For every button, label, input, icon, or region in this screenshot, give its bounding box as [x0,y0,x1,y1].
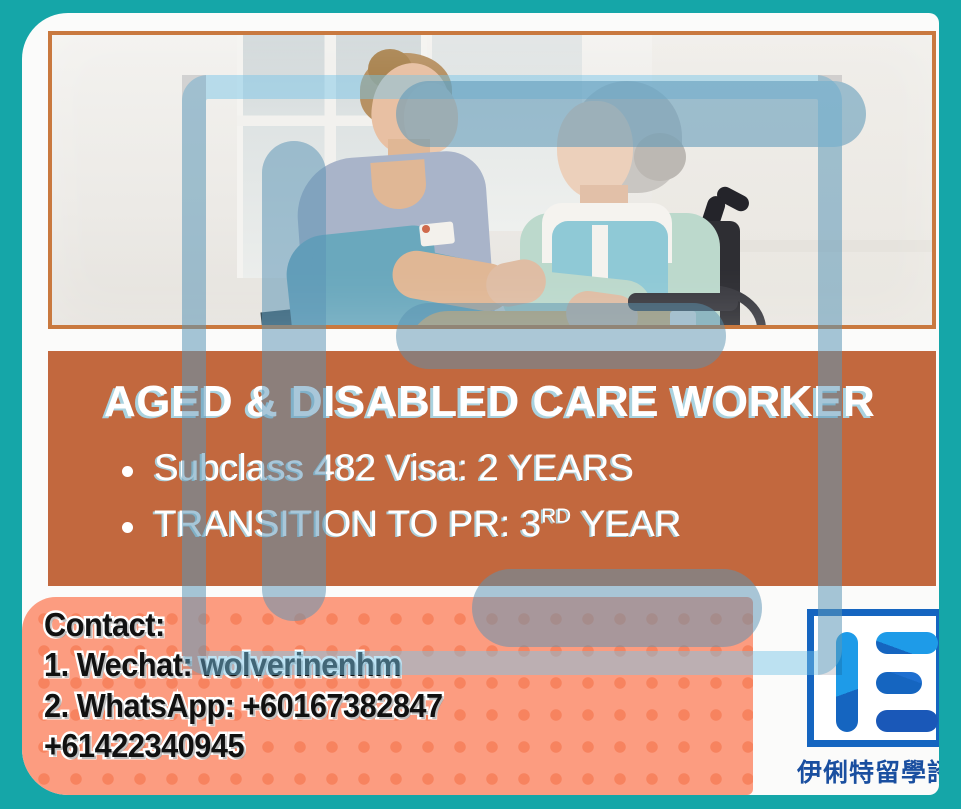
contact-text-block: Contact: 1. Wechat: wolverinenhm 2. What… [44,605,744,766]
logo-bar-top [876,632,938,654]
contact-wechat[interactable]: 1. Wechat: wolverinenhm [44,645,695,685]
logo-bar-middle [876,672,922,694]
elderly-hair [572,81,682,193]
wheelchair-backrest [664,221,740,325]
bullet-text: Subclass 482 Visa: 2 YEARS [154,447,634,488]
photo-frame [48,31,936,329]
elderly-collar [542,203,672,263]
e-logo-icon [807,609,939,747]
caregiver-neck [388,139,430,173]
contact-phone-secondary[interactable]: +61422340945 [44,726,695,766]
bullet-text-tail: YEAR [571,503,681,544]
elderly-neck [580,185,628,223]
list-item: TRANSITION TO PR: 3RD YEAR [114,503,682,545]
brand-logo: 伊俐特留學諮詢 [790,609,939,795]
bullet-text: TRANSITION TO PR: 3 [154,503,541,544]
logo-chinese-name: 伊俐特留學諮詢 [790,753,939,795]
caregiver-hair [360,53,452,127]
caregiver-head [366,58,456,160]
contact-whatsapp[interactable]: 2. WhatsApp: +60167382847 [44,686,695,726]
wheelchair-handle [691,194,728,260]
caregiver-face [404,83,458,153]
contact-panel: Contact: 1. Wechat: wolverinenhm 2. What… [22,597,753,795]
elderly-cardigan [520,213,720,325]
caregiver-hair-bun [368,49,412,89]
photo-wall [52,35,932,325]
caregiver-legs [260,294,443,325]
page-title: AGED & DISABLED CARE WORKER [104,377,875,427]
elderly-arm [499,267,654,325]
caregiver-name-badge [419,221,455,246]
wheelchair-handle-grip [714,184,752,214]
bullet-superscript: RD [541,505,571,528]
poster-card: AGED & DISABLED CARE WORKER Subclass 482… [22,13,939,795]
wheelchair-side-panel [670,311,696,325]
photo-window-2 [432,35,582,231]
window-mullion [237,35,427,284]
care-photo [52,35,932,325]
wheelchair-wheel [652,285,766,325]
caregiver-scrub-sleeve [283,223,444,325]
logo-bar-bottom [876,710,938,732]
photo-window [237,35,427,284]
contact-heading: Contact: [44,605,695,645]
elderly-shirt [552,221,668,325]
photo-window-sill [202,278,502,292]
elderly-face [557,101,633,199]
caregiver-scrub-top [294,149,496,325]
held-hands [482,255,550,311]
logo-vertical-bar [836,632,858,732]
elderly-hand [563,288,640,325]
caregiver-neckline [370,159,427,211]
caregiver-arm [306,228,505,325]
photo-wall-right [652,35,932,325]
caregiver-forearm [389,247,516,315]
caregiver-badge-dot [422,225,430,233]
elderly-hair-bun [634,133,686,181]
headline-banner: AGED & DISABLED CARE WORKER Subclass 482… [48,351,936,586]
photo-wall-trim [692,240,932,252]
lap-blanket [408,311,698,325]
elderly-shirt-placket [592,225,608,325]
poster-root: AGED & DISABLED CARE WORKER Subclass 482… [0,0,961,809]
list-item: Subclass 482 Visa: 2 YEARS [114,447,682,489]
benefits-list: Subclass 482 Visa: 2 YEARS TRANSITION TO… [114,447,682,559]
wheelchair-armrest [628,293,738,311]
